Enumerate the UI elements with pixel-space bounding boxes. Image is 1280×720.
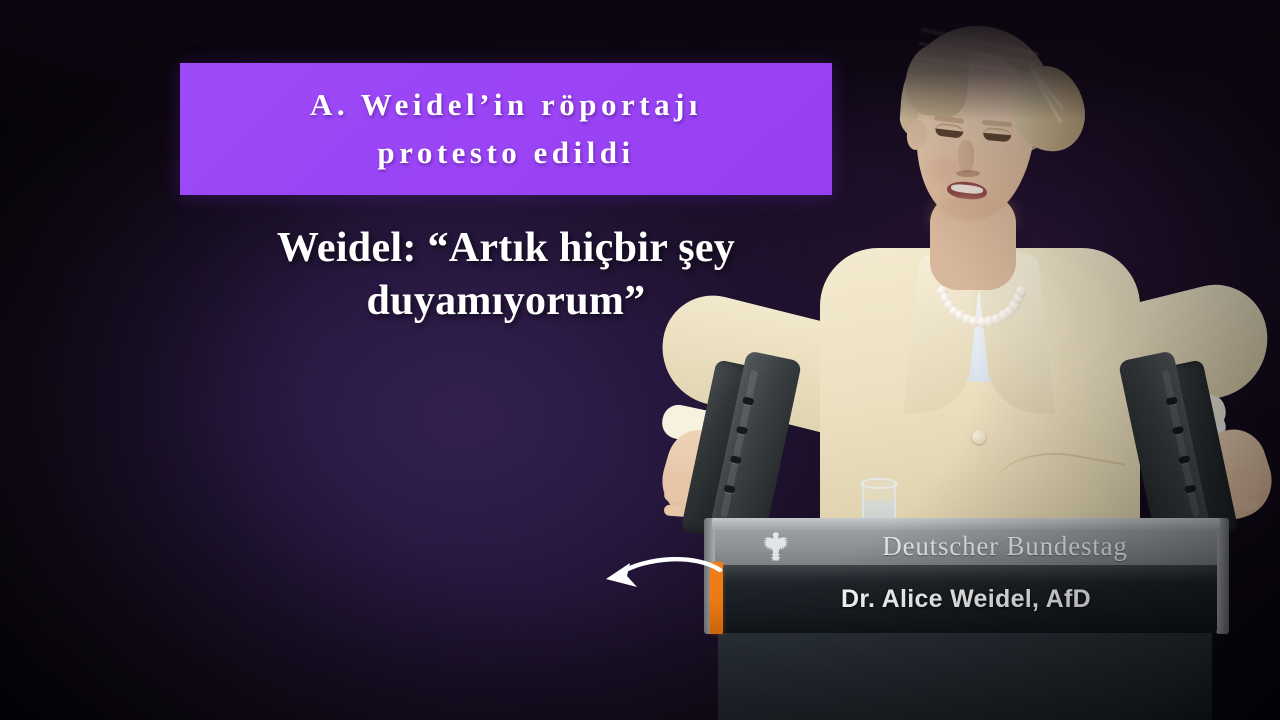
subheadline-block: Weidel: “Artık hiçbir şey duyamıyorum” <box>180 222 832 327</box>
headline-line-2: protesto edildi <box>377 129 634 177</box>
headline-banner: A. Weidel’in röportajı protesto edildi <box>180 63 832 195</box>
video-thumbnail-canvas: Deutscher Bundestag Dr. Alice Weidel, Af… <box>0 0 1280 720</box>
subheadline-line-1: Weidel: “Artık hiçbir şey <box>180 222 832 275</box>
headline-line-1: A. Weidel’in röportajı <box>310 81 702 129</box>
subheadline-line-2: duyamıyorum” <box>180 275 832 328</box>
